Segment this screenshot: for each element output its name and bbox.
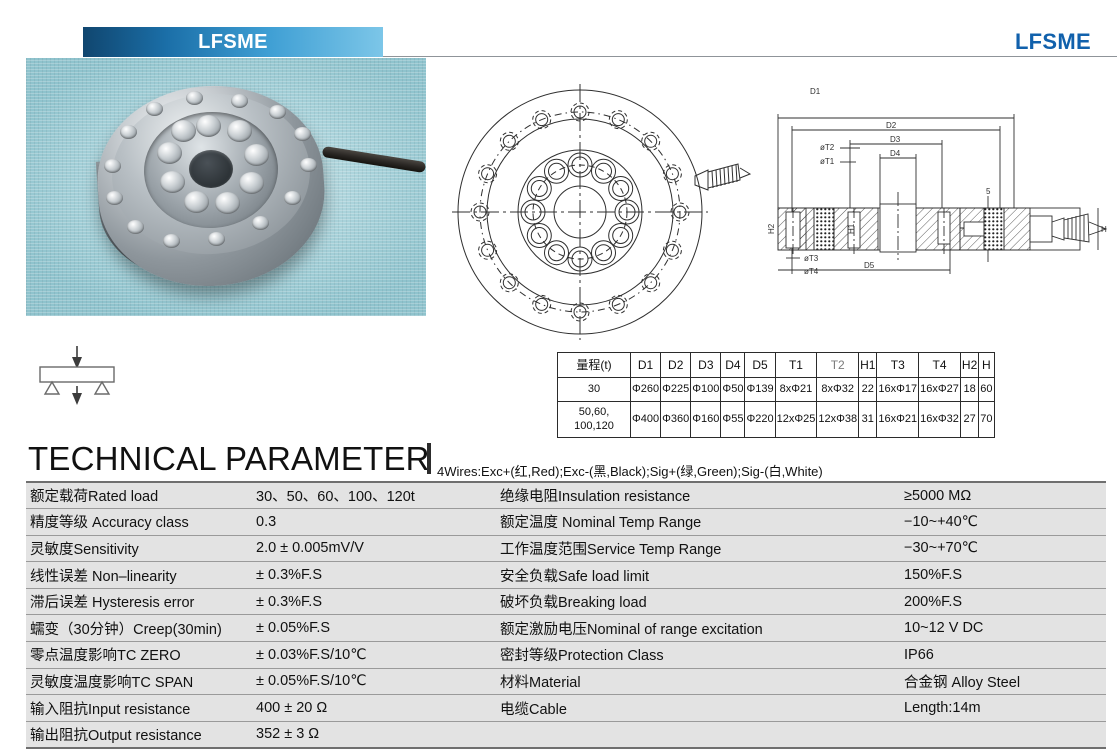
spec-right-value: IP66 (900, 642, 1106, 669)
dim-cell-t4: 16xΦ27 (919, 378, 961, 402)
spec-left-label: 线性误差 Non–linearity (26, 562, 252, 589)
specification-table: 额定载荷Rated load 30、50、60、100、120t 绝缘电阻Ins… (26, 481, 1106, 749)
support-right (95, 382, 109, 394)
inner-bolt (215, 192, 240, 214)
wiring-note: 4Wires:Exc+(红,Red);Exc-(黑,Black);Sig+(绿,… (437, 461, 823, 480)
inner-bolt (239, 172, 264, 194)
title-divider-bar (427, 443, 431, 474)
dim-cell-d5: Φ139 (745, 378, 775, 402)
dimension-table-header-row: 量程(t) D1 D2 D3 D4 D5 T1 T2 H1 T3 T4 H2 H (558, 353, 995, 378)
dim-header-h2: H2 (960, 353, 978, 378)
spec-left-label: 灵敏度Sensitivity (26, 535, 252, 562)
dim-cell-range: 50,60, 100,120 (558, 402, 631, 438)
peripheral-bolt (284, 191, 301, 205)
dim-header-t1: T1 (775, 353, 817, 378)
spec-right-value: −10~+40℃ (900, 509, 1106, 536)
dim-cell-h2: 18 (960, 378, 978, 402)
dim-cell-h1: 31 (859, 402, 877, 438)
dim-cell-t1: 12xΦ25 (775, 402, 817, 438)
dim-cell-h: 60 (979, 378, 994, 402)
spec-left-label: 蠕变（30分钟）Creep(30min) (26, 615, 252, 642)
spec-left-label: 精度等级 Accuracy class (26, 509, 252, 536)
table-row: 精度等级 Accuracy class 0.3 额定温度 Nominal Tem… (26, 509, 1106, 536)
dimension-label-d4: D4 (890, 149, 901, 158)
support-left (45, 382, 59, 394)
dimension-label-t2: øT2 (820, 143, 835, 152)
dim-cell-d2: Φ360 (661, 402, 691, 438)
header-divider-rule (383, 56, 1117, 57)
compression-load-symbol (22, 344, 132, 406)
dimension-table: 量程(t) D1 D2 D3 D4 D5 T1 T2 H1 T3 T4 H2 H… (557, 352, 995, 438)
spec-left-value: 352 ± 3 Ω (252, 721, 496, 748)
inner-bolt (171, 120, 196, 142)
dim-cell-t3: 16xΦ21 (877, 402, 919, 438)
spec-left-label: 灵敏度温度影响TC SPAN (26, 668, 252, 695)
product-photo (26, 58, 426, 316)
spec-right-value: 200%F.S (900, 588, 1106, 615)
inner-bolt (160, 171, 185, 193)
dimension-table-row: 50,60, 100,120 Φ400 Φ360 Φ160 Φ55 Φ220 1… (558, 402, 995, 438)
dimension-table-row: 30 Φ260 Φ225 Φ100 Φ50 Φ139 8xΦ21 8xΦ32 2… (558, 378, 995, 402)
dim-header-t4: T4 (919, 353, 961, 378)
spec-left-label: 零点温度影响TC ZERO (26, 642, 252, 669)
table-row: 输出阻抗Output resistance 352 ± 3 Ω (26, 721, 1106, 748)
dim-header-h: H (979, 353, 994, 378)
spec-right-label: 额定温度 Nominal Temp Range (496, 509, 900, 536)
dim-cell-range: 30 (558, 378, 631, 402)
table-row: 滞后误差 Hysteresis error ± 0.3%F.S 破坏负载Brea… (26, 588, 1106, 615)
page-title: TECHNICAL PARAMETER (28, 440, 430, 478)
spec-left-label: 滞后误差 Hysteresis error (26, 588, 252, 615)
table-row: 蠕变（30分钟）Creep(30min) ± 0.05%F.S 额定激励电压No… (26, 615, 1106, 642)
peripheral-bolt (163, 234, 180, 248)
spec-right-label: 电缆Cable (496, 695, 900, 722)
spec-right-value: 合金钢 Alloy Steel (900, 668, 1106, 695)
dim-cell-h: 70 (979, 402, 994, 438)
spec-left-label: 输出阻抗Output resistance (26, 721, 252, 748)
table-row: 零点温度影响TC ZERO ± 0.03%F.S/10℃ 密封等级Protect… (26, 642, 1106, 669)
dim-header-d2: D2 (661, 353, 691, 378)
peripheral-bolt (186, 91, 203, 105)
dim-cell-h2: 27 (960, 402, 978, 438)
dim-cell-t1: 8xΦ21 (775, 378, 817, 402)
dim-header-d5: D5 (745, 353, 775, 378)
spec-left-value: ± 0.05%F.S (252, 615, 496, 642)
peripheral-bolt (146, 102, 163, 116)
dim-cell-t3: 16xΦ17 (877, 378, 919, 402)
dim-cell-t2: 8xΦ32 (817, 378, 859, 402)
spec-right-value: Length:14m (900, 695, 1106, 722)
peripheral-bolt (252, 216, 269, 230)
spec-right-value (900, 721, 1106, 748)
dimension-label-h: H (1101, 225, 1107, 234)
table-row: 线性误差 Non–linearity ± 0.3%F.S 安全负载Safe lo… (26, 562, 1106, 589)
spec-right-value: ≥5000 MΩ (900, 482, 1106, 509)
peripheral-bolt (300, 158, 317, 172)
table-row: 额定载荷Rated load 30、50、60、100、120t 绝缘电阻Ins… (26, 482, 1106, 509)
peripheral-bolt (127, 220, 144, 234)
inner-bolt (244, 144, 269, 166)
dimension-label-d2: D2 (886, 121, 897, 130)
dimension-label-t3: øT3 (804, 254, 819, 263)
peripheral-bolt (294, 127, 311, 141)
thread-right (984, 208, 1004, 250)
inner-bolt (227, 120, 252, 142)
peripheral-bolt (269, 105, 286, 119)
spec-right-label: 额定激励电压Nominal of range excitation (496, 615, 900, 642)
peripheral-bolt (231, 94, 248, 108)
dimension-label-h2: H2 (768, 223, 776, 234)
load-cell-cross-section-drawing: D1 D2 D3 D4 øT2 øT1 (768, 84, 1112, 290)
dim-header-h1: H1 (859, 353, 877, 378)
cable-exit (695, 164, 750, 190)
spec-right-label: 工作温度范围Service Temp Range (496, 535, 900, 562)
page-header: LFSME LFSME (0, 0, 1117, 56)
spec-right-label: 绝缘电阻Insulation resistance (496, 482, 900, 509)
dim-cell-d1: Φ400 (631, 402, 661, 438)
inner-bolt (157, 142, 182, 164)
dim-cell-t4: 16xΦ32 (919, 402, 961, 438)
table-row: 灵敏度Sensitivity 2.0 ± 0.005mV/V 工作温度范围Ser… (26, 535, 1106, 562)
spec-right-label: 安全负载Safe load limit (496, 562, 900, 589)
dimension-label-t4: øT4 (804, 267, 819, 276)
peripheral-bolt (120, 125, 137, 139)
header-model-label: LFSME (83, 27, 383, 57)
dim-cell-d5: Φ220 (745, 402, 775, 438)
dim-header-range: 量程(t) (558, 353, 631, 378)
thread-left (814, 208, 834, 250)
dim-cell-d4: Φ50 (721, 378, 745, 402)
spec-right-label: 破坏负载Breaking load (496, 588, 900, 615)
inner-bolt (184, 191, 209, 213)
center-hub (189, 150, 233, 188)
table-row: 输入阻抗Input resistance 400 ± 20 Ω 电缆Cable … (26, 695, 1106, 722)
dim-cell-range-line1: 50,60, (579, 406, 610, 418)
spec-right-label: 材料Material (496, 668, 900, 695)
spec-right-label (496, 721, 900, 748)
peripheral-bolt (106, 191, 123, 205)
header-title-band: LFSME (83, 27, 383, 57)
dimension-label-d3: D3 (890, 135, 901, 144)
dimension-label-t1: øT1 (820, 157, 835, 166)
spec-right-value: 150%F.S (900, 562, 1106, 589)
dim-header-t3: T3 (877, 353, 919, 378)
dim-cell-range-line2: 100,120 (574, 420, 614, 432)
cable-gland-section (1030, 214, 1106, 242)
table-row: 灵敏度温度影响TC SPAN ± 0.05%F.S/10℃ 材料Material… (26, 668, 1106, 695)
dim-cell-t2: 12xΦ38 (817, 402, 859, 438)
spec-right-value: 10~12 V DC (900, 615, 1106, 642)
spec-left-label: 额定载荷Rated load (26, 482, 252, 509)
dim-header-d3: D3 (691, 353, 721, 378)
load-cell-top-view-drawing (452, 84, 752, 346)
dim-cell-d4: Φ55 (721, 402, 745, 438)
spec-left-label: 输入阻抗Input resistance (26, 695, 252, 722)
load-beam (40, 367, 114, 382)
dim-cell-h1: 22 (859, 378, 877, 402)
dimension-label-h1: H1 (847, 223, 856, 234)
dimension-label-d1: D1 (810, 87, 821, 96)
spec-left-value: 400 ± 20 Ω (252, 695, 496, 722)
dim-cell-d2: Φ225 (661, 378, 691, 402)
peripheral-bolt (104, 159, 121, 173)
inner-bolt (196, 115, 221, 137)
spec-left-value: 30、50、60、100、120t (252, 482, 496, 509)
spec-left-value: ± 0.05%F.S/10℃ (252, 668, 496, 695)
dimension-label-d5: D5 (864, 261, 875, 270)
dim-cell-d3: Φ100 (691, 378, 721, 402)
spec-left-value: ± 0.3%F.S (252, 562, 496, 589)
dimension-label-5: 5 (986, 187, 991, 196)
dim-header-d1: D1 (631, 353, 661, 378)
spec-left-value: 0.3 (252, 509, 496, 536)
brand-logo-text: LFSME (1015, 29, 1091, 55)
arrow-down-bottom (72, 393, 82, 405)
spec-left-value: ± 0.3%F.S (252, 588, 496, 615)
dim-header-t2: T2 (817, 353, 859, 378)
spec-right-value: −30~+70℃ (900, 535, 1106, 562)
dim-cell-d1: Φ260 (631, 378, 661, 402)
spec-left-value: 2.0 ± 0.005mV/V (252, 535, 496, 562)
dim-cell-d3: Φ160 (691, 402, 721, 438)
dim-header-d4: D4 (721, 353, 745, 378)
peripheral-bolt (208, 232, 225, 246)
spec-right-label: 密封等级Protection Class (496, 642, 900, 669)
spec-left-value: ± 0.03%F.S/10℃ (252, 642, 496, 669)
